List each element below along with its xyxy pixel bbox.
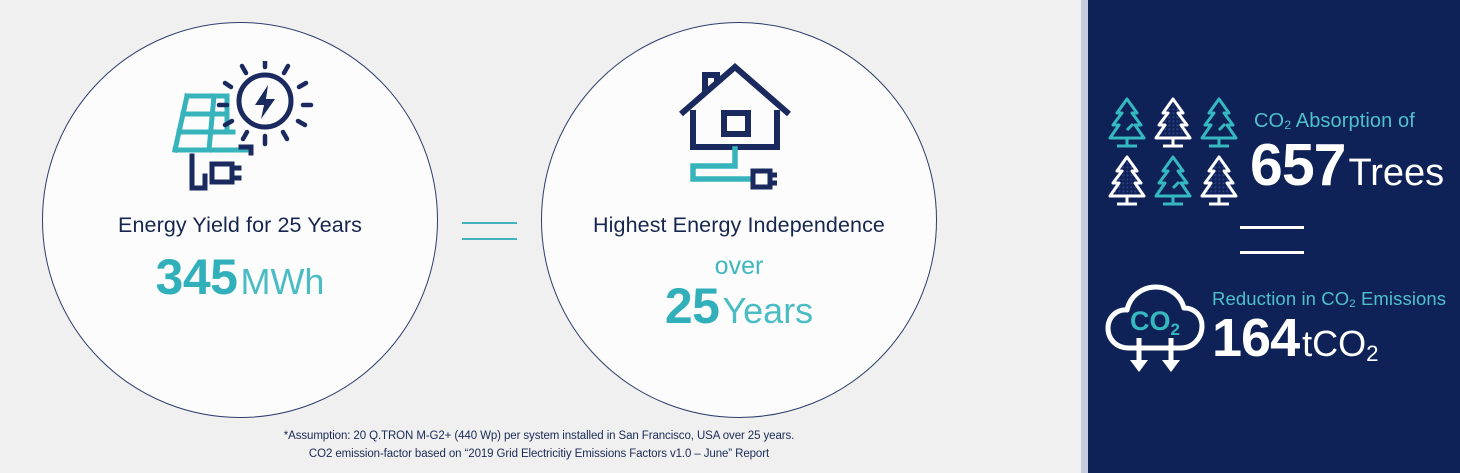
co2-label-sub: 2 [1349,298,1355,310]
tree-icon-4 [1104,152,1150,210]
co2-label-suffix: Emissions [1356,288,1446,309]
card-value-number: 345 [156,249,238,305]
co2-unit-prefix: tCO [1302,323,1366,364]
co2-label-prefix: Reduction in CO [1212,288,1349,309]
co2-unit-sub: 2 [1366,341,1378,366]
co2-value-number: 164 [1212,308,1299,368]
equals-bar-bottom [462,238,517,240]
card-value-row: 25Years [665,281,813,331]
trees-label: CO2 Absorption of [1254,110,1460,132]
co2-value-row: 164tCO2 [1212,311,1460,365]
trees-value-unit: Trees [1348,152,1444,194]
footnote-line-1: *Assumption: 20 Q.TRON M-G2+ (440 Wp) pe… [0,427,1078,445]
solar-panel-with-sun-and-plug-icon [165,61,315,191]
double-line-divider [1240,226,1304,256]
trees-block: CO2 Absorption of 657Trees [1088,88,1460,216]
equals-bar-top [462,222,517,224]
panel-accent-strip [1081,0,1088,473]
tree-icon-1 [1104,94,1150,152]
card-energy-independence: Highest Energy Independence over 25Years [541,22,937,418]
equals-sign [462,218,517,244]
co2-block: CO2 Reduction in CO2 Emissions 164tCO2 [1088,272,1460,382]
card-value-row: 345MWh [156,252,325,302]
card-value-number: 25 [665,278,720,334]
infographic-root: Energy Yield for 25 Years 345MWh [0,0,1460,473]
card-energy-yield: Energy Yield for 25 Years 345MWh [42,22,438,418]
trees-label-sub: 2 [1284,118,1291,132]
tree-icon-6 [1196,152,1242,210]
divider-bar-bottom [1240,251,1304,254]
card-value-unit: Years [722,290,813,331]
trees-value-row: 657Trees [1250,136,1460,195]
card-title: Highest Energy Independence [593,213,885,238]
svg-text:CO2: CO2 [1130,306,1180,339]
card-title: Energy Yield for 25 Years [118,213,362,238]
trees-label-prefix: CO [1254,110,1284,132]
tree-icon-2 [1150,94,1196,152]
tree-icon-5 [1150,152,1196,210]
pine-trees-icon [1104,94,1244,210]
card-subtitle: over [715,254,764,279]
footnote-line-2: CO2 emission-factor based on “2019 Grid … [0,445,1078,463]
tree-icon-3 [1196,94,1242,152]
card-value-unit: MWh [240,261,324,302]
environmental-impact-panel: CO2 Absorption of 657Trees CO2 [1088,0,1460,473]
footnote: *Assumption: 20 Q.TRON M-G2+ (440 Wp) pe… [0,427,1078,463]
co2-text-block: Reduction in CO2 Emissions 164tCO2 [1212,289,1460,365]
co2-cloud-with-down-arrows-icon: CO2 [1100,278,1210,376]
house-with-plug-icon [669,61,809,191]
co2-value-unit: tCO2 [1302,323,1378,364]
trees-value-number: 657 [1250,132,1345,198]
co2-label: Reduction in CO2 Emissions [1212,289,1460,309]
trees-label-suffix: Absorption of [1291,110,1415,132]
divider-bar-top [1240,226,1304,229]
trees-text-block: CO2 Absorption of 657Trees [1250,110,1460,195]
